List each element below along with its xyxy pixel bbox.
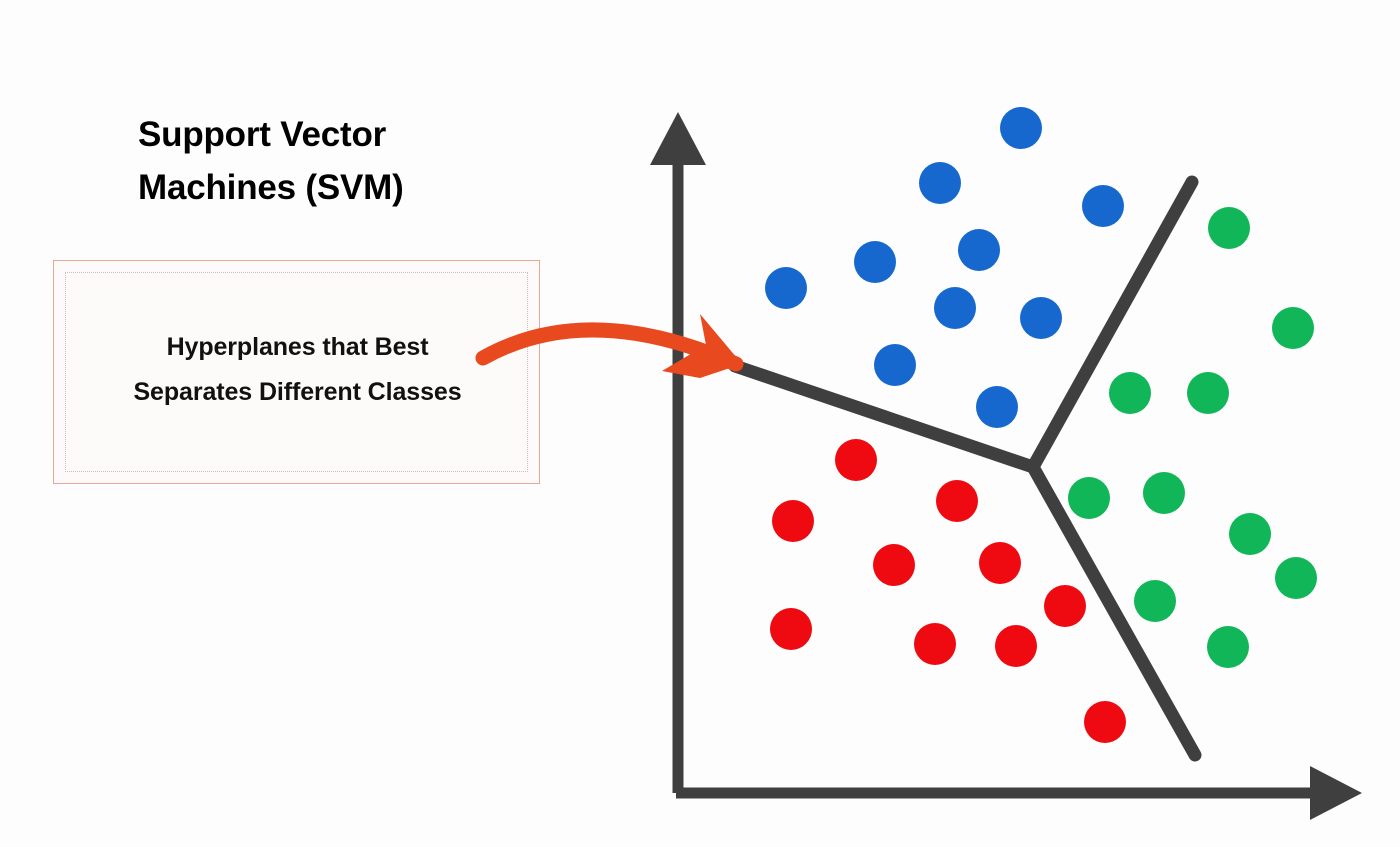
data-point-red — [995, 625, 1037, 667]
x-axis-arrowhead-icon — [1310, 766, 1362, 820]
data-point-blue — [1020, 297, 1062, 339]
data-point-blue — [919, 162, 961, 204]
data-point-green — [1068, 477, 1110, 519]
y-axis-arrowhead-icon — [650, 112, 706, 165]
data-point-green — [1272, 307, 1314, 349]
data-point-blue — [1082, 185, 1124, 227]
data-point-red — [936, 480, 978, 522]
data-point-red — [914, 623, 956, 665]
data-point-green — [1275, 557, 1317, 599]
data-series-red — [770, 439, 1126, 743]
data-point-blue — [934, 287, 976, 329]
data-point-green — [1208, 207, 1250, 249]
data-point-green — [1207, 626, 1249, 668]
data-point-blue — [958, 229, 1000, 271]
data-point-blue — [874, 344, 916, 386]
data-point-red — [770, 608, 812, 650]
data-point-blue — [976, 386, 1018, 428]
data-point-red — [835, 439, 877, 481]
data-point-green — [1109, 372, 1151, 414]
data-point-green — [1134, 580, 1176, 622]
data-point-red — [1084, 701, 1126, 743]
hyperplanes-group — [735, 182, 1195, 755]
data-point-red — [1044, 585, 1086, 627]
callout-arrow — [483, 314, 742, 378]
data-point-green — [1229, 513, 1271, 555]
data-point-blue — [1000, 107, 1042, 149]
data-point-green — [1187, 372, 1229, 414]
axes-group — [650, 112, 1362, 820]
data-point-blue — [765, 267, 807, 309]
data-point-red — [979, 542, 1021, 584]
data-point-blue — [854, 241, 896, 283]
plot-canvas — [0, 0, 1400, 847]
svm-diagram: Support Vector Machines (SVM) Hyperplane… — [0, 0, 1400, 847]
data-point-green — [1143, 472, 1185, 514]
data-series-blue — [765, 107, 1124, 428]
data-point-red — [772, 500, 814, 542]
data-point-red — [873, 544, 915, 586]
